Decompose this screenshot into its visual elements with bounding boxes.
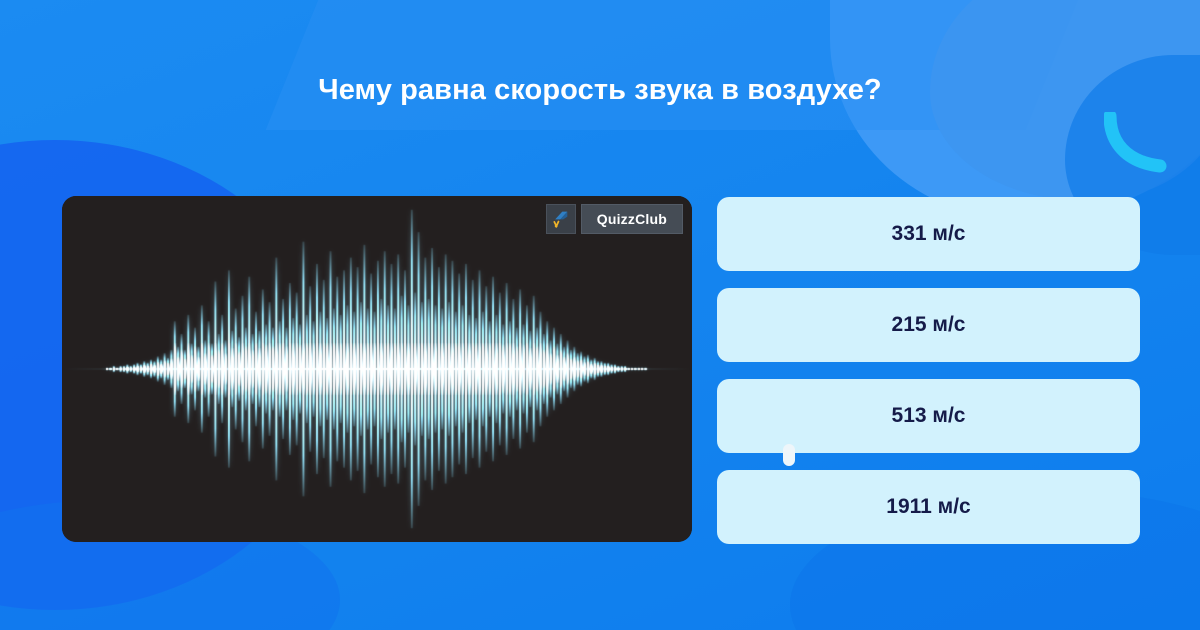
page-title: Чему равна скорость звука в воздухе? bbox=[0, 74, 1200, 107]
cyan-arc-decoration bbox=[1104, 112, 1170, 174]
answer-option-1[interactable]: 331 м/с bbox=[717, 197, 1140, 271]
graduation-cap-icon bbox=[546, 204, 576, 234]
answer-option-2-label: 215 м/с bbox=[892, 313, 966, 337]
media-card: QuizzClub bbox=[62, 196, 692, 542]
answer-option-1-label: 331 м/с bbox=[892, 222, 966, 246]
scroll-handle-nub[interactable] bbox=[783, 444, 795, 466]
answer-option-3[interactable]: 513 м/с bbox=[717, 379, 1140, 453]
answer-options-list: 331 м/с 215 м/с 513 м/с 1911 м/с bbox=[717, 197, 1140, 544]
background-sheen bbox=[266, 0, 1095, 130]
answer-option-2[interactable]: 215 м/с bbox=[717, 288, 1140, 362]
background-blob-top-right-light bbox=[830, 0, 1200, 220]
audio-waveform-visual bbox=[62, 196, 692, 542]
answer-option-4-label: 1911 м/с bbox=[886, 495, 970, 519]
answer-option-3-label: 513 м/с bbox=[892, 404, 966, 428]
poster-canvas: Чему равна скорость звука в воздухе? Qui… bbox=[0, 0, 1200, 630]
watermark-label: QuizzClub bbox=[581, 204, 683, 234]
answer-option-4[interactable]: 1911 м/с bbox=[717, 470, 1140, 544]
watermark-badge: QuizzClub bbox=[546, 204, 683, 234]
